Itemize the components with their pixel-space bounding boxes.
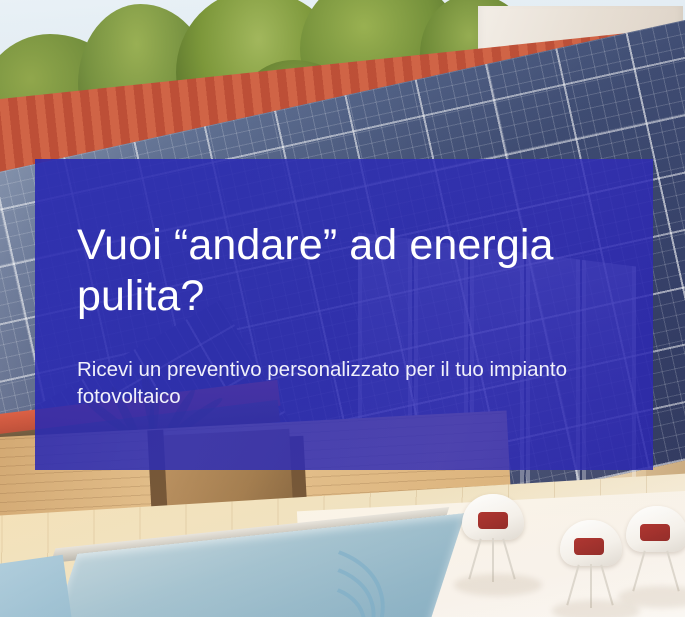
swimming-pool-shallow xyxy=(0,555,72,617)
hero-text-overlay: Vuoi “andare” ad energia pulita? Ricevi … xyxy=(35,159,653,470)
hero-headline: Vuoi “andare” ad energia pulita? xyxy=(77,220,611,322)
hero-banner: Vuoi “andare” ad energia pulita? Ricevi … xyxy=(0,0,685,617)
hero-subtitle: Ricevi un preventivo personalizzato per … xyxy=(77,356,607,410)
